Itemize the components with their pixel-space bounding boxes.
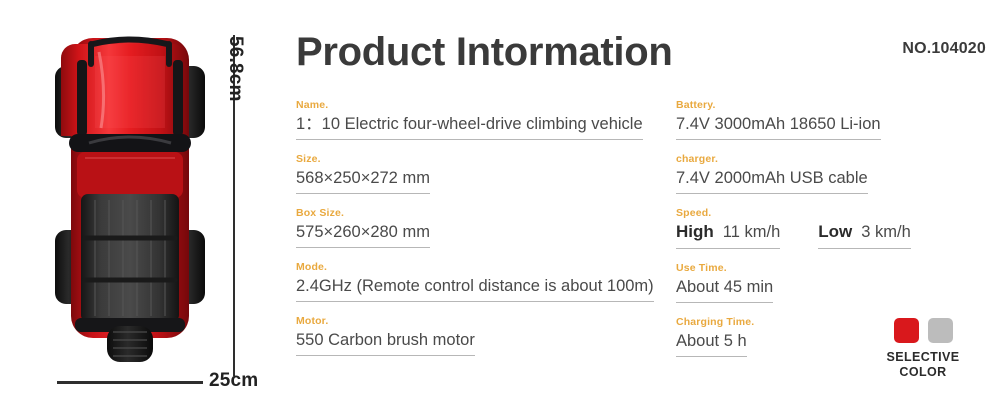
left-rail: [77, 60, 87, 136]
spec-field-size: Size. 568×250×272 mm: [296, 152, 672, 194]
spec-label-motor: Motor.: [296, 314, 672, 328]
selective-color-caption: SELECTIVE COLOR: [867, 350, 979, 380]
header: Product Intormation NO.104020: [296, 30, 986, 86]
spec-value-use-time: About 45 min: [676, 275, 773, 303]
spec-label-speed: Speed.: [676, 206, 986, 220]
spec-label-use-time: Use Time.: [676, 261, 986, 275]
selective-color-caption-line2: COLOR: [867, 365, 979, 380]
selective-color-caption-line1: SELECTIVE: [867, 350, 979, 365]
speed-mode-high: High: [676, 222, 714, 241]
spec-value-box-size: 575×260×280 mm: [296, 220, 430, 248]
spec-label-name: Name.: [296, 98, 672, 112]
page-title: Product Intormation: [296, 30, 673, 75]
spare-tire: [107, 326, 153, 362]
spec-field-use-time: Use Time. About 45 min: [676, 261, 986, 303]
width-dimension-label: 25cm: [209, 370, 258, 392]
color-swatch-row: [867, 318, 979, 343]
spec-field-box-size: Box Size. 575×260×280 mm: [296, 206, 672, 248]
right-rail: [173, 60, 183, 136]
spec-value-mode: 2.4GHz (Remote control distance is about…: [296, 274, 654, 302]
spec-field-battery: Battery. 7.4V 3000mAh 18650 Li-ion: [676, 98, 986, 140]
width-dimension-line: [57, 381, 203, 384]
selective-color-group: SELECTIVE COLOR: [867, 318, 979, 380]
spec-field-name: Name. 1：10 Electric four-wheel-drive cli…: [296, 98, 672, 140]
vehicle-photo: [55, 22, 205, 367]
spec-column-left: Name. 1：10 Electric four-wheel-drive cli…: [296, 98, 672, 368]
speed-values: High11 km/h Low3 km/h: [676, 220, 986, 249]
speed-item-high: High11 km/h: [676, 220, 780, 249]
spec-field-speed: Speed. High11 km/h Low3 km/h: [676, 206, 986, 249]
spec-label-box-size: Box Size.: [296, 206, 672, 220]
spec-panel: Product Intormation NO.104020 Name. 1：10…: [275, 0, 1000, 410]
height-dimension-label: 56.8cm: [224, 36, 246, 146]
spec-value-charger: 7.4V 2000mAh USB cable: [676, 166, 868, 194]
spec-value-name: 1：10 Electric four-wheel-drive climbing …: [296, 112, 643, 140]
spec-field-mode: Mode. 2.4GHz (Remote control distance is…: [296, 260, 672, 302]
spec-value-charging-time: About 5 h: [676, 329, 747, 357]
spec-value-size: 568×250×272 mm: [296, 166, 430, 194]
spec-field-charger: charger. 7.4V 2000mAh USB cable: [676, 152, 986, 194]
model-number: NO.104020: [902, 40, 986, 58]
spec-label-mode: Mode.: [296, 260, 672, 274]
spec-field-motor: Motor. 550 Carbon brush motor: [296, 314, 672, 356]
spec-label-size: Size.: [296, 152, 672, 166]
spec-label-charger: charger.: [676, 152, 986, 166]
speed-item-low: Low3 km/h: [818, 220, 911, 249]
speed-value-low: 3 km/h: [861, 223, 911, 241]
spec-value-battery: 7.4V 3000mAh 18650 Li-ion: [676, 112, 881, 140]
spec-value-motor: 550 Carbon brush motor: [296, 328, 475, 356]
hood-highlight: [95, 56, 165, 128]
color-swatch-gray[interactable]: [928, 318, 953, 343]
speed-value-high: 11 km/h: [723, 223, 780, 241]
spec-label-battery: Battery.: [676, 98, 986, 112]
windshield-bar: [69, 134, 191, 152]
speed-mode-low: Low: [818, 222, 852, 241]
vehicle-illustration: [55, 22, 205, 367]
product-photo-panel: 56.8cm 25cm: [0, 0, 275, 410]
color-swatch-red[interactable]: [894, 318, 919, 343]
